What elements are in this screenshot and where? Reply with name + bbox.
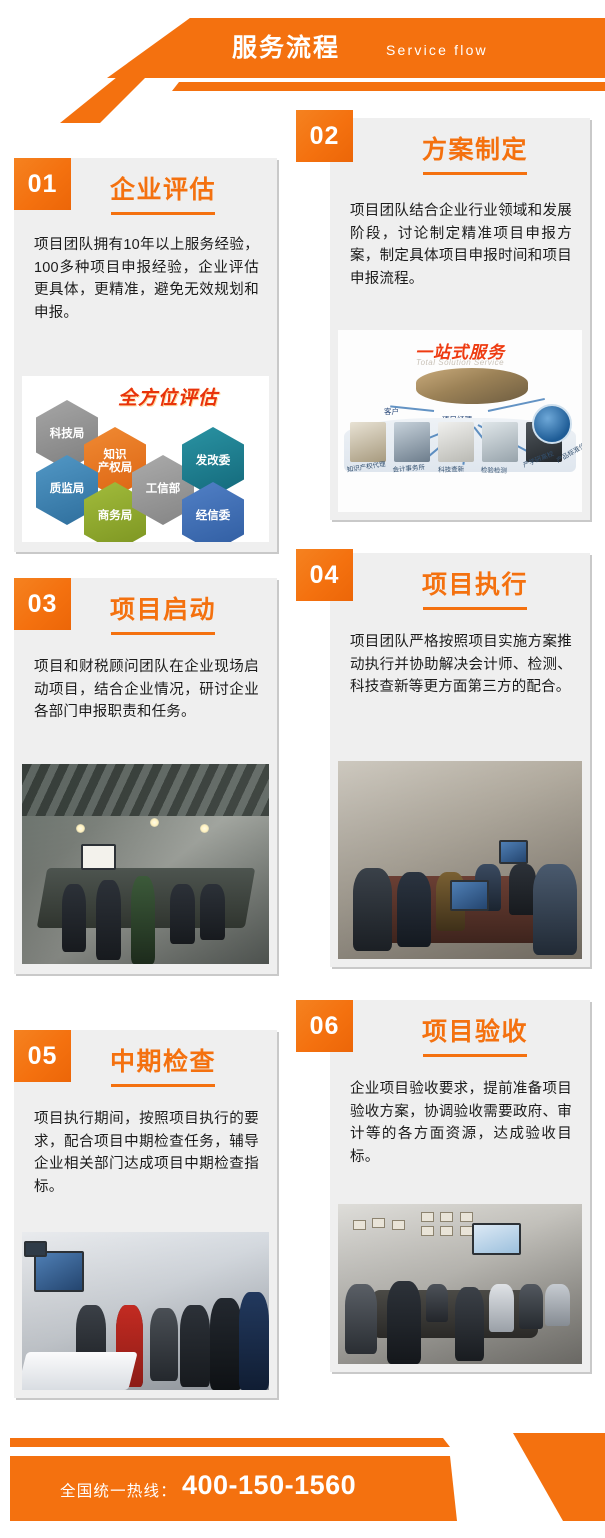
hotline-label: 全国统一热线： [60, 1479, 177, 1501]
hotline-number[interactable]: 400-150-1560 [182, 1470, 356, 1501]
hex-diagram-title: 全方位评估 [118, 383, 218, 410]
page-title: 服务流程 [232, 31, 340, 65]
process-step-card-04: 项目执行 项目团队严格按照项目实施方案推动执行并协助解决会计师、检测、科技查新等… [330, 553, 590, 967]
oss-thumb-accounting [394, 422, 430, 462]
photo-working-session [338, 761, 582, 959]
oss-thumb-ip [350, 422, 386, 462]
oss-label-search: 科技查新 [438, 463, 464, 474]
card-media-02: 一站式服务 Total Solution Service 客户 项目经理 知识产… [338, 330, 582, 512]
hex-diagram: 全方位评估 科技局 知识产权局 质监局 商务局 工信部 发改委 经信委 [22, 376, 269, 542]
photo-meeting-room [22, 764, 269, 964]
card-title-06: 项目验收 [422, 1012, 528, 1048]
card-media-05 [22, 1232, 269, 1390]
footer-wedge-shape [445, 1433, 605, 1521]
card-body-04: 项目团队严格按照项目实施方案推动执行并协助解决会计师、检测、科技查新等更方面第三… [350, 631, 572, 699]
process-step-card-02: 方案制定 项目团队结合企业行业领域和发展阶段，讨论制定精准项目申报方案，制定具体… [330, 118, 590, 520]
header-accent-stripe [0, 82, 605, 91]
card-title-03: 项目启动 [110, 590, 216, 626]
card-title-05: 中期检查 [110, 1042, 216, 1078]
oss-thumb-testing [482, 422, 518, 462]
footer-accent-stripe [10, 1438, 605, 1447]
step-number-badge-02: 02 [296, 110, 353, 162]
step-number-badge-05: 05 [14, 1030, 71, 1082]
process-step-card-03: 项目启动 项目和财税顾问团队在企业现场启动项目，结合企业情况，研讨企业各部门申报… [14, 578, 277, 974]
step-number-badge-01: 01 [14, 158, 71, 210]
card-body-02: 项目团队结合企业行业领域和发展阶段，讨论制定精准项目申报方案，制定具体项目申报时… [350, 200, 572, 290]
oss-subtitle: Total Solution Service [338, 358, 582, 367]
card-body-01: 项目团队拥有10年以上服务经验，100多种项目申报经验，企业评估更具体，更精准，… [34, 234, 259, 324]
card-media-03 [22, 764, 269, 964]
page-subtitle: Service flow [386, 40, 488, 60]
step-number-badge-06: 06 [296, 1000, 353, 1052]
oss-team-photo [416, 368, 528, 404]
card-media-01: 全方位评估 科技局 知识产权局 质监局 商务局 工信部 发改委 经信委 [22, 376, 269, 542]
photo-showroom-visit [22, 1232, 269, 1390]
card-title-02: 方案制定 [422, 130, 528, 166]
oss-thumb-search [438, 422, 474, 462]
oss-label-accounting: 会计事务所 [392, 461, 425, 474]
step-number-badge-03: 03 [14, 578, 71, 630]
card-body-03: 项目和财税顾问团队在企业现场启动项目，结合企业情况，研讨企业各部门申报职责和任务… [34, 656, 259, 724]
card-media-06 [338, 1204, 582, 1364]
page-header: 服务流程 Service flow [0, 0, 605, 118]
card-body-06: 企业项目验收要求，提前准备项目验收方案，协调验收需要政府、审计等的各方面资源，达… [350, 1078, 572, 1168]
photo-conference-room [338, 1204, 582, 1364]
card-media-04 [338, 761, 582, 959]
oss-certification-seal [532, 404, 572, 444]
card-title-04: 项目执行 [422, 565, 528, 601]
oss-label-testing: 检验检测 [481, 464, 507, 475]
process-step-card-05: 中期检查 项目执行期间，按照项目执行的要求，配合项目中期检查任务，辅导企业相关部… [14, 1030, 277, 1398]
card-body-05: 项目执行期间，按照项目执行的要求，配合项目中期检查任务，辅导企业相关部门达成项目… [34, 1108, 259, 1198]
card-title-01: 企业评估 [110, 170, 216, 206]
process-step-card-06: 项目验收 企业项目验收要求，提前准备项目验收方案，协调验收需要政府、审计等的各方… [330, 1000, 590, 1372]
one-stop-service-diagram: 一站式服务 Total Solution Service 客户 项目经理 知识产… [338, 330, 582, 512]
process-step-card-01: 企业评估 项目团队拥有10年以上服务经验，100多种项目申报经验，企业评估更具体… [14, 158, 277, 552]
page-footer: 全国统一热线： 400-150-1560 [0, 1400, 605, 1538]
step-number-badge-04: 04 [296, 549, 353, 601]
